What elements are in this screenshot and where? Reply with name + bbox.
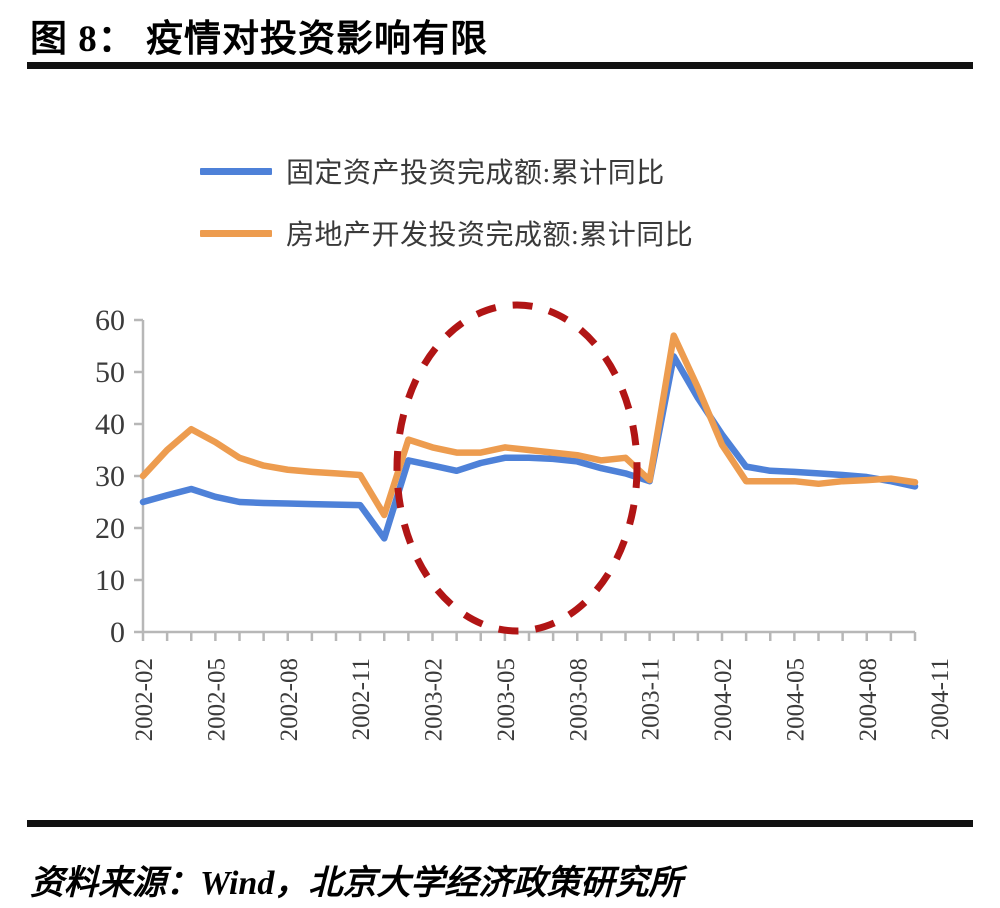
line-chart-svg: 0102030405060 2002-022002-052002-082002-…: [0, 290, 1000, 820]
legend-swatch-blue-icon: [200, 168, 272, 175]
legend-swatch-orange-icon: [200, 230, 272, 237]
y-axis-ticks: 0102030405060: [95, 304, 143, 649]
x-tick-label: 2004-08: [855, 658, 882, 741]
y-tick-label: 60: [95, 304, 125, 337]
x-tick-label: 2004-02: [710, 658, 737, 741]
legend-label-fixed-asset-investment: 固定资产投资完成额:累计同比: [286, 151, 665, 191]
x-tick-label: 2002-11: [348, 658, 375, 740]
y-tick-label: 30: [95, 460, 125, 493]
x-tick-label: 2004-11: [927, 658, 954, 740]
x-tick-label: 2002-05: [203, 658, 230, 741]
series-line-real-estate-investment: [143, 336, 915, 515]
source-note: 资料来源：Wind，北京大学经济政策研究所: [30, 855, 682, 904]
x-tick-label: 2002-02: [131, 658, 158, 741]
data-series-layer: [143, 336, 915, 539]
legend-label-real-estate-investment: 房地产开发投资完成额:累计同比: [286, 213, 693, 253]
x-tick-label: 2003-11: [638, 658, 665, 740]
x-tick-label: 2003-02: [421, 658, 448, 741]
x-axis-ticks: [143, 632, 915, 641]
header-divider: [27, 62, 973, 69]
y-tick-label: 20: [95, 512, 125, 545]
chart-legend: 固定资产投资完成额:累计同比 房地产开发投资完成额:累计同比: [200, 140, 840, 264]
legend-item-real-estate-investment: 房地产开发投资完成额:累计同比: [200, 202, 840, 264]
y-tick-label: 10: [95, 564, 125, 597]
legend-item-fixed-asset-investment: 固定资产投资完成额:累计同比: [200, 140, 840, 202]
x-axis-tick-labels: 2002-022002-052002-082002-112003-022003-…: [131, 658, 954, 741]
x-tick-label: 2003-05: [493, 658, 520, 741]
chart-area: 0102030405060 2002-022002-052002-082002-…: [0, 290, 1000, 820]
x-tick-label: 2004-05: [782, 658, 809, 741]
y-tick-label: 40: [95, 408, 125, 441]
footer-divider: [27, 820, 973, 827]
y-tick-label: 0: [110, 616, 125, 649]
x-tick-label: 2002-08: [276, 658, 303, 741]
x-tick-label: 2003-08: [565, 658, 592, 741]
page-title: 图 8： 疫情对投资影响有限: [30, 8, 488, 62]
y-tick-label: 50: [95, 356, 125, 389]
figure-page: 图 8： 疫情对投资影响有限 固定资产投资完成额:累计同比 房地产开发投资完成额…: [0, 0, 1000, 908]
